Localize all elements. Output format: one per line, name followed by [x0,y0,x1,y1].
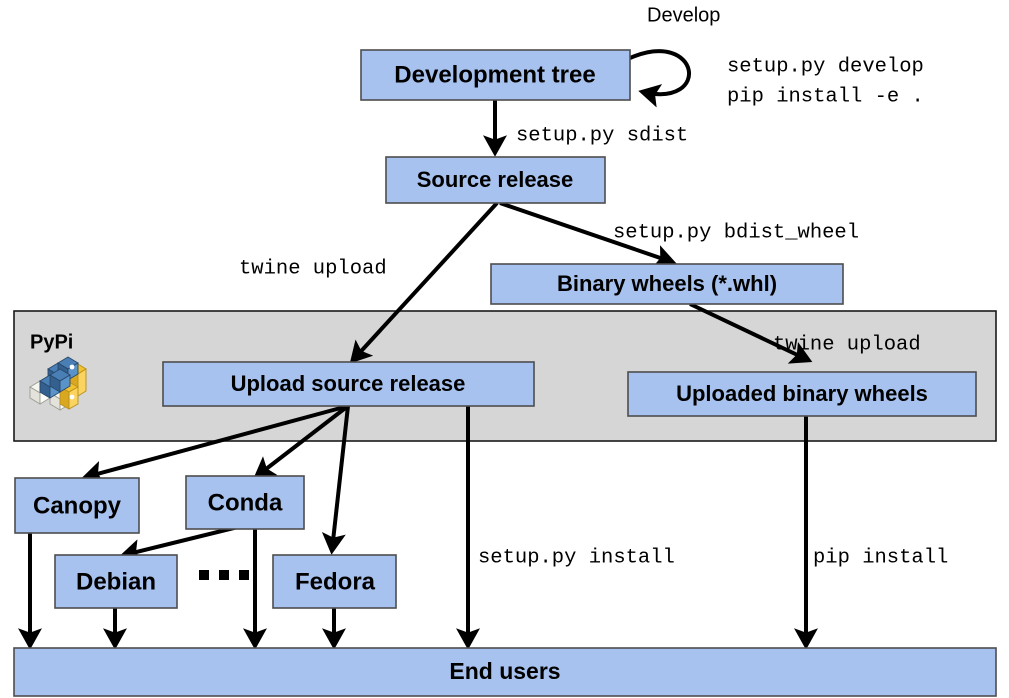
edge-label-pip-install: pip install [813,546,948,569]
edge-label-setup-py-sdist: setup.py sdist [516,124,688,147]
node-uploaded-binary-wheels[interactable]: Uploaded binary wheels [628,372,976,416]
node-canopy-label: Canopy [33,492,122,519]
node-upload-source-release-label: Upload source release [231,371,466,396]
node-end-users[interactable]: End users [14,648,996,696]
packaging-flow-diagram: Development tree Source release Binary w… [0,0,1009,698]
edge-label-twine-upload-source: twine upload [239,257,387,280]
node-source-release-label: Source release [417,167,574,192]
edge-label-setup-py-bdist-wheel: setup.py bdist_wheel [613,221,859,244]
node-development-tree[interactable]: Development tree [361,50,630,100]
ellipsis-icon [199,570,249,580]
node-uploaded-binary-wheels-label: Uploaded binary wheels [676,381,928,406]
node-canopy[interactable]: Canopy [15,478,139,533]
node-binary-wheels[interactable]: Binary wheels (*.whl) [491,264,843,304]
node-binary-wheels-label: Binary wheels (*.whl) [557,271,777,296]
edge-label-twine-upload-wheels: twine upload [773,333,921,356]
node-upload-source-release[interactable]: Upload source release [163,362,534,406]
node-debian-label: Debian [76,568,156,595]
edge-label-setup-py-install: setup.py install [478,546,675,569]
node-fedora[interactable]: Fedora [273,555,396,608]
node-end-users-label: End users [449,658,560,684]
pypi-group-label: PyPi [30,331,73,353]
node-debian[interactable]: Debian [55,555,177,608]
edge-conda-to-debian [124,526,242,555]
edge-label-develop: Develop [647,4,720,26]
edge-label-setup-py-develop: setup.py develop [727,55,924,78]
edge-label-pip-install-editable: pip install -e . [727,85,924,108]
node-development-tree-label: Development tree [394,61,595,88]
node-conda[interactable]: Conda [186,476,304,529]
node-source-release[interactable]: Source release [386,157,605,203]
node-conda-label: Conda [208,489,283,516]
edge-develop-self-loop [630,51,689,94]
node-fedora-label: Fedora [295,568,376,595]
